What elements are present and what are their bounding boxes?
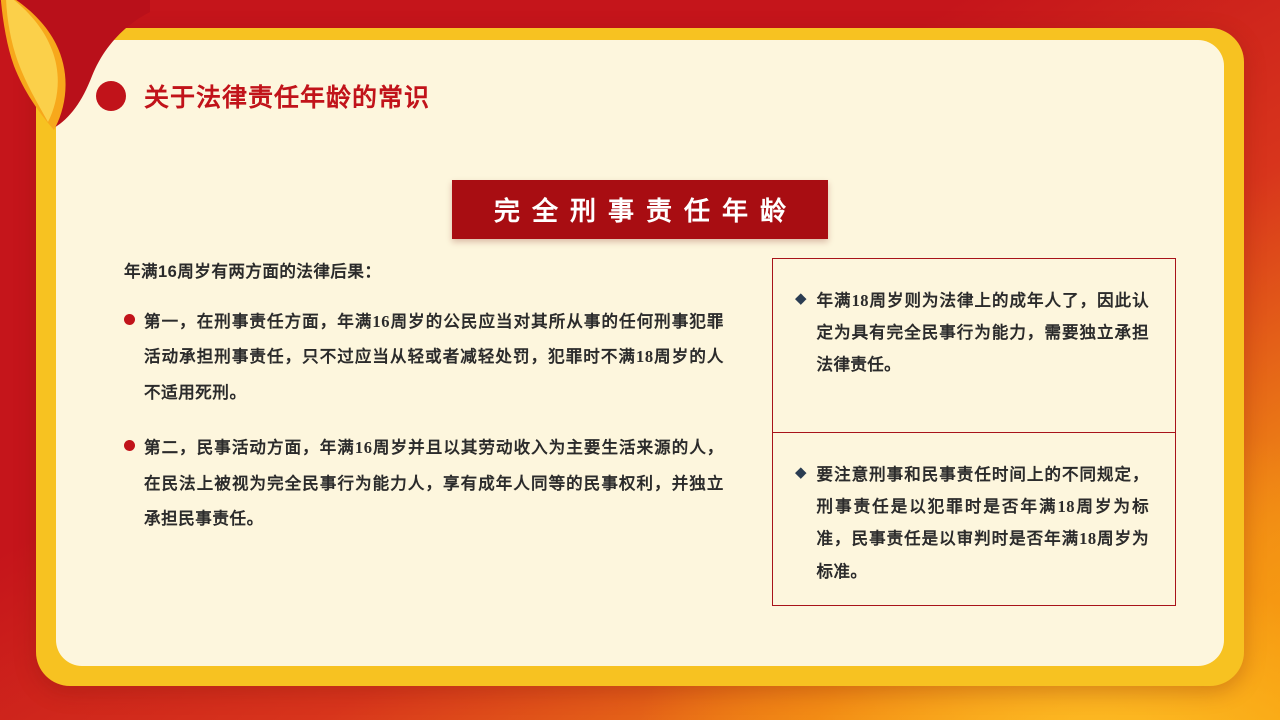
diamond-icon: ◆ <box>795 285 807 314</box>
bullet-dot-icon <box>124 314 135 325</box>
note-item: ◆ 要注意刑事和民事责任时间上的不同规定，刑事责任是以犯罪时是否年满18周岁为标… <box>773 432 1175 605</box>
slide-header: 关于法律责任年龄的常识 <box>96 78 430 114</box>
paragraph-item: 第一，在刑事责任方面，年满16周岁的公民应当对其所从事的任何刑事犯罪活动承担刑事… <box>124 304 724 410</box>
note-item: ◆ 年满18周岁则为法律上的成年人了，因此认定为具有完全民事行为能力，需要独立承… <box>773 259 1175 432</box>
note-text: 要注意刑事和民事责任时间上的不同规定，刑事责任是以犯罪时是否年满18周岁为标准，… <box>817 459 1149 588</box>
bullet-dot-icon <box>124 440 135 451</box>
lead-text: 年满16周岁有两方面的法律后果： <box>124 258 724 282</box>
page-title: 关于法律责任年龄的常识 <box>144 78 430 114</box>
note-text: 年满18周岁则为法律上的成年人了，因此认定为具有完全民事行为能力，需要独立承担法… <box>817 285 1149 382</box>
right-column: ◆ 年满18周岁则为法律上的成年人了，因此认定为具有完全民事行为能力，需要独立承… <box>772 258 1176 648</box>
slide: 关于法律责任年龄的常识 完全刑事责任年龄 年满16周岁有两方面的法律后果： 第一… <box>0 0 1280 720</box>
section-banner: 完全刑事责任年龄 <box>452 180 828 239</box>
slide-frame: 关于法律责任年龄的常识 完全刑事责任年龄 年满16周岁有两方面的法律后果： 第一… <box>36 28 1244 686</box>
slide-card: 关于法律责任年龄的常识 完全刑事责任年龄 年满16周岁有两方面的法律后果： 第一… <box>56 40 1224 666</box>
note-box: ◆ 年满18周岁则为法律上的成年人了，因此认定为具有完全民事行为能力，需要独立承… <box>772 258 1176 606</box>
paragraph-text: 第一，在刑事责任方面，年满16周岁的公民应当对其所从事的任何刑事犯罪活动承担刑事… <box>144 304 724 410</box>
paragraph-item: 第二，民事活动方面，年满16周岁并且以其劳动收入为主要生活来源的人，在民法上被视… <box>124 430 724 536</box>
diamond-icon: ◆ <box>795 459 807 488</box>
slide-content: 年满16周岁有两方面的法律后果： 第一，在刑事责任方面，年满16周岁的公民应当对… <box>56 258 1224 648</box>
header-dot-icon <box>96 81 126 111</box>
paragraph-text: 第二，民事活动方面，年满16周岁并且以其劳动收入为主要生活来源的人，在民法上被视… <box>144 430 724 536</box>
left-column: 年满16周岁有两方面的法律后果： 第一，在刑事责任方面，年满16周岁的公民应当对… <box>124 258 724 648</box>
